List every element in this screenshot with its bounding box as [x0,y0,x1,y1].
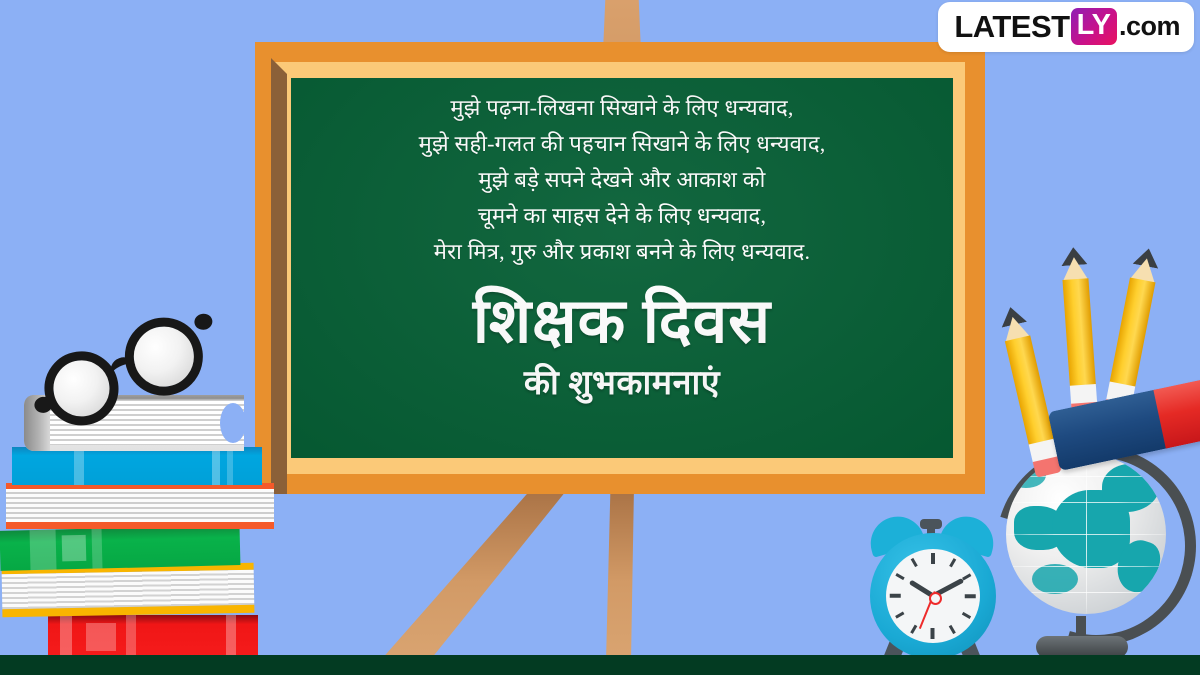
book-stack [0,395,290,660]
greeting-card-canvas: मुझे पढ़ना-लिखना सिखाने के लिए धन्यवाद, … [0,0,1200,675]
list-item [48,615,258,657]
chalkboard-frame: मुझे पढ़ना-लिखना सिखाने के लिए धन्यवाद, … [255,42,985,494]
list-item [0,525,240,571]
site-logo[interactable]: LATEST LY .com [938,2,1194,52]
clock-center-pin [929,592,942,605]
greeting-subheadline: की शुभकामनाएं [291,360,953,408]
floor-strip [0,655,1200,675]
easel-leg-straight [600,486,650,661]
clock-body [870,533,996,659]
clock-face [886,549,980,643]
chalkboard-surface: मुझे पढ़ना-लिखना सिखाने के लिए धन्यवाद, … [291,78,953,458]
quote-line-4: चूमने का साहस देने के लिए धन्यवाद, [291,198,953,234]
pencil-icon [1060,244,1098,415]
logo-suffix-text: .com [1119,11,1180,42]
quote-line-3: मुझे बड़े सपने देखने और आकाश को [291,162,953,198]
globe-gridlines [1006,454,1166,614]
logo-primary-text: LATEST [954,9,1069,45]
quote-line-5: मेरा मित्र, गुरु और प्रकाश बनने के लिए ध… [291,234,953,270]
pencil-icon [997,302,1061,473]
easel-leg-slanted [380,486,570,661]
list-item [2,563,255,617]
quote-line-1: मुझे पढ़ना-लिखना सिखाने के लिए धन्यवाद, [291,90,953,126]
eyeglasses-temple-right [193,313,213,331]
quote-line-2: मुझे सही-गलत की पहचान सिखाने के लिए धन्य… [291,126,953,162]
pencil-set-icon [990,245,1200,475]
list-item [6,483,274,529]
greeting-headline: शिक्षक दिवस [291,284,953,360]
globe-sphere [1006,454,1166,614]
alarm-clock-icon [858,505,1008,665]
chalkboard-message: मुझे पढ़ना-लिखना सिखाने के लिए धन्यवाद, … [291,90,953,408]
list-item [12,447,262,485]
logo-accent-badge: LY [1071,8,1117,45]
